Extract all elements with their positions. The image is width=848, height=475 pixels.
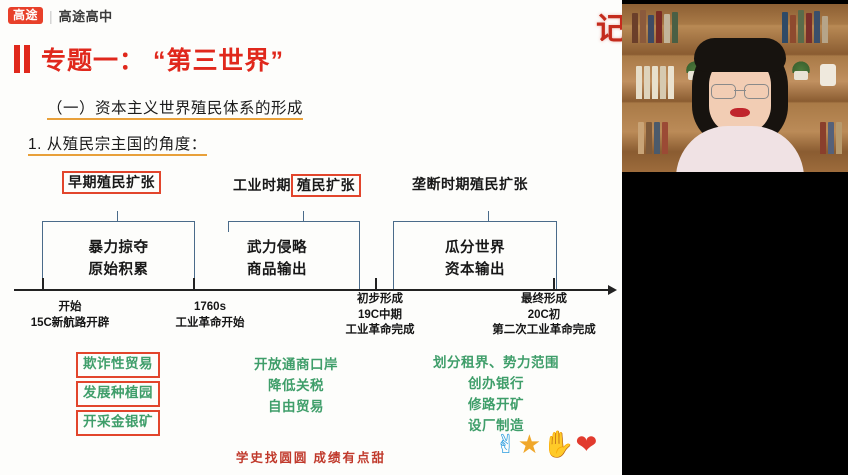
lecture-slide-screen: 高途 | 高途高中 专题一： “第三世界” （一）资本主义世界殖民体系的形成 1… [0,0,848,475]
timeline-tick-4 [553,278,555,289]
timeline-label-3-line3: 工业革命完成 [310,323,450,339]
brand-logo: 高途 | 高途高中 [8,6,113,25]
note-item-1-2: 发展种植园 [76,381,160,407]
note-item-3-3: 修路开矿 [412,395,580,416]
brand-name: 高途高中 [59,6,113,25]
timeline-label-3: 初步形成 19C中期 工业革命完成 [310,292,450,339]
title-text: 专题一： “第三世界” [41,41,284,77]
brand-separator: | [49,8,53,24]
bracket-3-stem [488,211,489,222]
phase-box-3-line2: 资本输出 [445,260,505,281]
phase-box-1: 暴力掠夺 原始积累 [42,230,195,289]
notes-column-3: 划分租界、势力范围 创办银行 修路开矿 设厂制造 [412,353,580,437]
hair-fringe [694,38,786,72]
notes-column-2: 开放通商口岸 降低关税 自由贸易 [228,355,364,418]
phase-box-1-line1: 暴力掠夺 [89,238,149,259]
timeline-label-3-line1: 初步形成 [310,292,450,308]
video-letterbox [622,172,848,475]
timeline-label-1-line2: 15C新航路开辟 [0,316,140,332]
phase-header-3-text: 垄断时期殖民扩张 [412,176,528,192]
timeline-label-1-line1: 开始 [0,300,140,316]
note-item-2-2: 降低关税 [228,376,364,397]
subsection-heading: 1. 从殖民宗主国的角度： [28,132,207,154]
timeline-label-1: 开始 15C新航路开辟 [0,300,140,331]
timeline-label-2-line2: 工业革命开始 [140,316,280,332]
phase-header-2-boxed: 殖民扩张 [291,174,361,197]
bracket-1-stem [117,211,118,222]
footer-slogan: 学史找圆圆 成绩有点甜 [0,447,622,466]
section-heading: （一）资本主义世界殖民体系的形成 [47,96,303,118]
brand-badge: 高途 [8,7,43,24]
glasses-icon [711,84,769,99]
timeline-label-4-line3: 第二次工业革命完成 [468,323,620,339]
phase-box-2-line1: 武力侵略 [247,238,307,259]
books-row-2-left [636,66,674,99]
teacher-avatar [680,38,800,172]
note-item-3-1: 划分租界、势力范围 [412,353,580,374]
timeline-tick-2 [193,278,195,289]
torso [676,126,804,172]
section-heading-text: （一）资本主义世界殖民体系的形成 [47,100,303,120]
books-row-3-left [638,122,668,154]
note-item-3-2: 创办银行 [412,374,580,395]
note-item-2-1: 开放通商口岸 [228,355,364,376]
books-row-1-left [632,10,678,43]
jar-icon [820,64,836,86]
notes-column-1: 欺诈性贸易 发展种植园 开采金银矿 [62,352,174,439]
phase-header-2: 工业时期殖民扩张 [233,174,361,197]
phase-header-2-prefix: 工业时期 [233,177,291,193]
timeline-label-4: 最终形成 20C初 第二次工业革命完成 [468,292,620,339]
teacher-video-panel[interactable] [622,0,848,475]
subsection-heading-text: 1. 从殖民宗主国的角度： [28,136,207,156]
timeline-label-4-line2: 20C初 [468,308,620,324]
timeline-label-4-line1: 最终形成 [468,292,620,308]
phase-box-3-line1: 瓜分世界 [445,238,505,259]
phase-header-3: 垄断时期殖民扩张 [412,174,528,194]
mouth [730,108,750,117]
slide-canvas: 高途 | 高途高中 专题一： “第三世界” （一）资本主义世界殖民体系的形成 1… [0,0,622,475]
phase-box-2: 武力侵略 商品输出 [194,230,360,289]
phase-box-2-line2: 商品输出 [247,260,307,281]
books-row-3-right [820,122,842,154]
timeline-tick-1 [42,278,44,289]
webcam-feed[interactable] [622,4,848,172]
page-title: 专题一： “第三世界” [14,41,284,77]
note-item-1-3: 开采金银矿 [76,410,160,436]
bracket-2-stem [303,211,304,222]
phase-box-1-line2: 原始积累 [89,260,149,281]
note-item-2-3: 自由贸易 [228,397,364,418]
phase-box-3: 瓜分世界 资本输出 [393,230,557,289]
timeline-label-3-line2: 19C中期 [310,308,450,324]
phase-header-1: 早期殖民扩张 [62,171,161,194]
timeline-label-2-line1: 1760s [140,300,280,316]
phase-header-1-text: 早期殖民扩张 [62,171,161,194]
title-accent-bars [14,45,30,73]
note-item-1-1: 欺诈性贸易 [76,352,160,378]
timeline-label-2: 1760s 工业革命开始 [140,300,280,331]
timeline-tick-3 [375,278,377,289]
timeline-axis [14,289,610,291]
